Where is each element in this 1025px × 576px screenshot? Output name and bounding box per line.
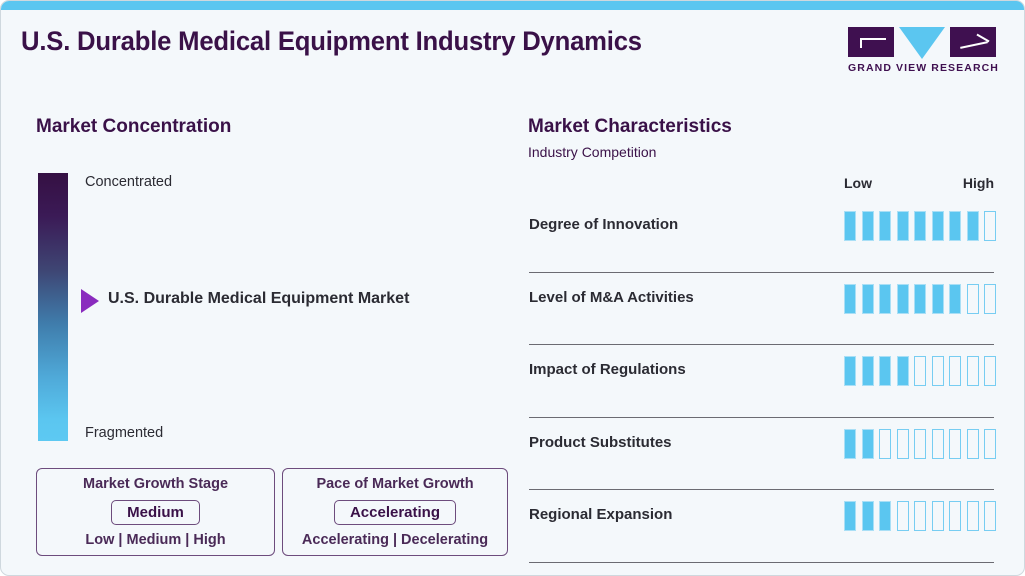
rating-tick-empty (897, 501, 909, 531)
characteristic-row: Level of M&A Activities (529, 273, 994, 346)
growth-pace-options: Accelerating | Decelerating (302, 532, 488, 548)
characteristic-rating-bars (844, 429, 996, 459)
rating-tick-filled (844, 429, 856, 459)
rating-tick-filled (862, 211, 874, 241)
characteristic-rating-bars (844, 284, 996, 314)
rating-tick-filled (914, 284, 926, 314)
infographic-card: U.S. Durable Medical Equipment Industry … (0, 0, 1025, 576)
rating-tick-filled (862, 501, 874, 531)
rating-tick-empty (932, 429, 944, 459)
characteristic-label: Level of M&A Activities (529, 289, 694, 306)
rating-tick-empty (984, 429, 996, 459)
rating-tick-empty (879, 429, 891, 459)
rating-tick-empty (967, 429, 979, 459)
rating-tick-filled (844, 284, 856, 314)
rating-tick-empty (914, 501, 926, 531)
market-position-arrow-icon (81, 289, 99, 313)
rating-tick-filled (862, 284, 874, 314)
rating-tick-empty (984, 501, 996, 531)
rating-tick-empty (967, 356, 979, 386)
market-position-label: U.S. Durable Medical Equipment Market (108, 290, 409, 308)
rating-tick-filled (844, 356, 856, 386)
concentration-gradient-bar (38, 173, 68, 441)
scale-high-label: High (963, 175, 994, 191)
characteristic-label: Degree of Innovation (529, 216, 678, 233)
rating-tick-empty (932, 501, 944, 531)
characteristic-rating-bars (844, 211, 996, 241)
rating-tick-empty (967, 501, 979, 531)
logo-g-mark-icon (848, 27, 894, 57)
rating-tick-empty (897, 429, 909, 459)
characteristic-row: Impact of Regulations (529, 345, 994, 418)
rating-tick-filled (862, 356, 874, 386)
rating-tick-filled (879, 284, 891, 314)
logo-wordmark: GRAND VIEW RESEARCH (848, 62, 996, 74)
rating-tick-empty (914, 356, 926, 386)
rating-tick-filled (879, 211, 891, 241)
concentration-top-label: Concentrated (85, 174, 172, 190)
grand-view-research-logo: GRAND VIEW RESEARCH (848, 27, 996, 74)
characteristics-rows: Degree of InnovationLevel of M&A Activit… (529, 200, 994, 563)
rating-tick-empty (949, 356, 961, 386)
market-growth-stage-box: Market Growth Stage Medium Low | Medium … (36, 468, 275, 556)
characteristic-row: Regional Expansion (529, 490, 994, 563)
growth-pace-title: Pace of Market Growth (316, 476, 473, 492)
rating-tick-filled (862, 429, 874, 459)
rating-tick-empty (932, 356, 944, 386)
concentration-bottom-label: Fragmented (85, 425, 163, 441)
rating-tick-empty (949, 429, 961, 459)
scale-low-label: Low (844, 175, 872, 191)
rating-tick-filled (879, 501, 891, 531)
growth-pace-value-chip: Accelerating (334, 500, 456, 525)
growth-pace-value: Accelerating (350, 504, 440, 521)
rating-tick-filled (897, 211, 909, 241)
market-characteristics-subtitle: Industry Competition (528, 144, 656, 160)
characteristic-rating-bars (844, 356, 996, 386)
rating-tick-filled (844, 211, 856, 241)
rating-tick-empty (967, 284, 979, 314)
logo-marks (848, 27, 996, 57)
market-concentration-heading: Market Concentration (36, 116, 231, 138)
rating-tick-filled (897, 356, 909, 386)
logo-r-mark-icon (950, 27, 996, 57)
top-accent-bar (1, 1, 1025, 10)
growth-stage-title: Market Growth Stage (83, 476, 228, 492)
scale-labels: Low High (844, 175, 994, 191)
growth-stage-value-chip: Medium (111, 500, 200, 525)
rating-tick-filled (879, 356, 891, 386)
rating-tick-filled (914, 211, 926, 241)
characteristic-label: Product Substitutes (529, 434, 672, 451)
characteristic-row: Product Substitutes (529, 418, 994, 491)
pace-of-market-growth-box: Pace of Market Growth Accelerating Accel… (282, 468, 508, 556)
characteristic-label: Impact of Regulations (529, 361, 686, 378)
rating-tick-empty (984, 356, 996, 386)
rating-tick-filled (932, 284, 944, 314)
growth-stage-options: Low | Medium | High (85, 532, 225, 548)
characteristic-row: Degree of Innovation (529, 200, 994, 273)
logo-triangle-icon (899, 27, 945, 59)
rating-tick-filled (949, 211, 961, 241)
rating-tick-filled (844, 501, 856, 531)
rating-tick-empty (984, 211, 996, 241)
rating-tick-filled (932, 211, 944, 241)
rating-tick-filled (949, 284, 961, 314)
rating-tick-filled (967, 211, 979, 241)
rating-tick-empty (949, 501, 961, 531)
characteristic-label: Regional Expansion (529, 506, 672, 523)
market-characteristics-heading: Market Characteristics (528, 116, 732, 138)
rating-tick-empty (914, 429, 926, 459)
page-title: U.S. Durable Medical Equipment Industry … (21, 26, 642, 57)
growth-stage-value: Medium (127, 504, 184, 521)
rating-tick-filled (897, 284, 909, 314)
rating-tick-empty (984, 284, 996, 314)
characteristic-rating-bars (844, 501, 996, 531)
